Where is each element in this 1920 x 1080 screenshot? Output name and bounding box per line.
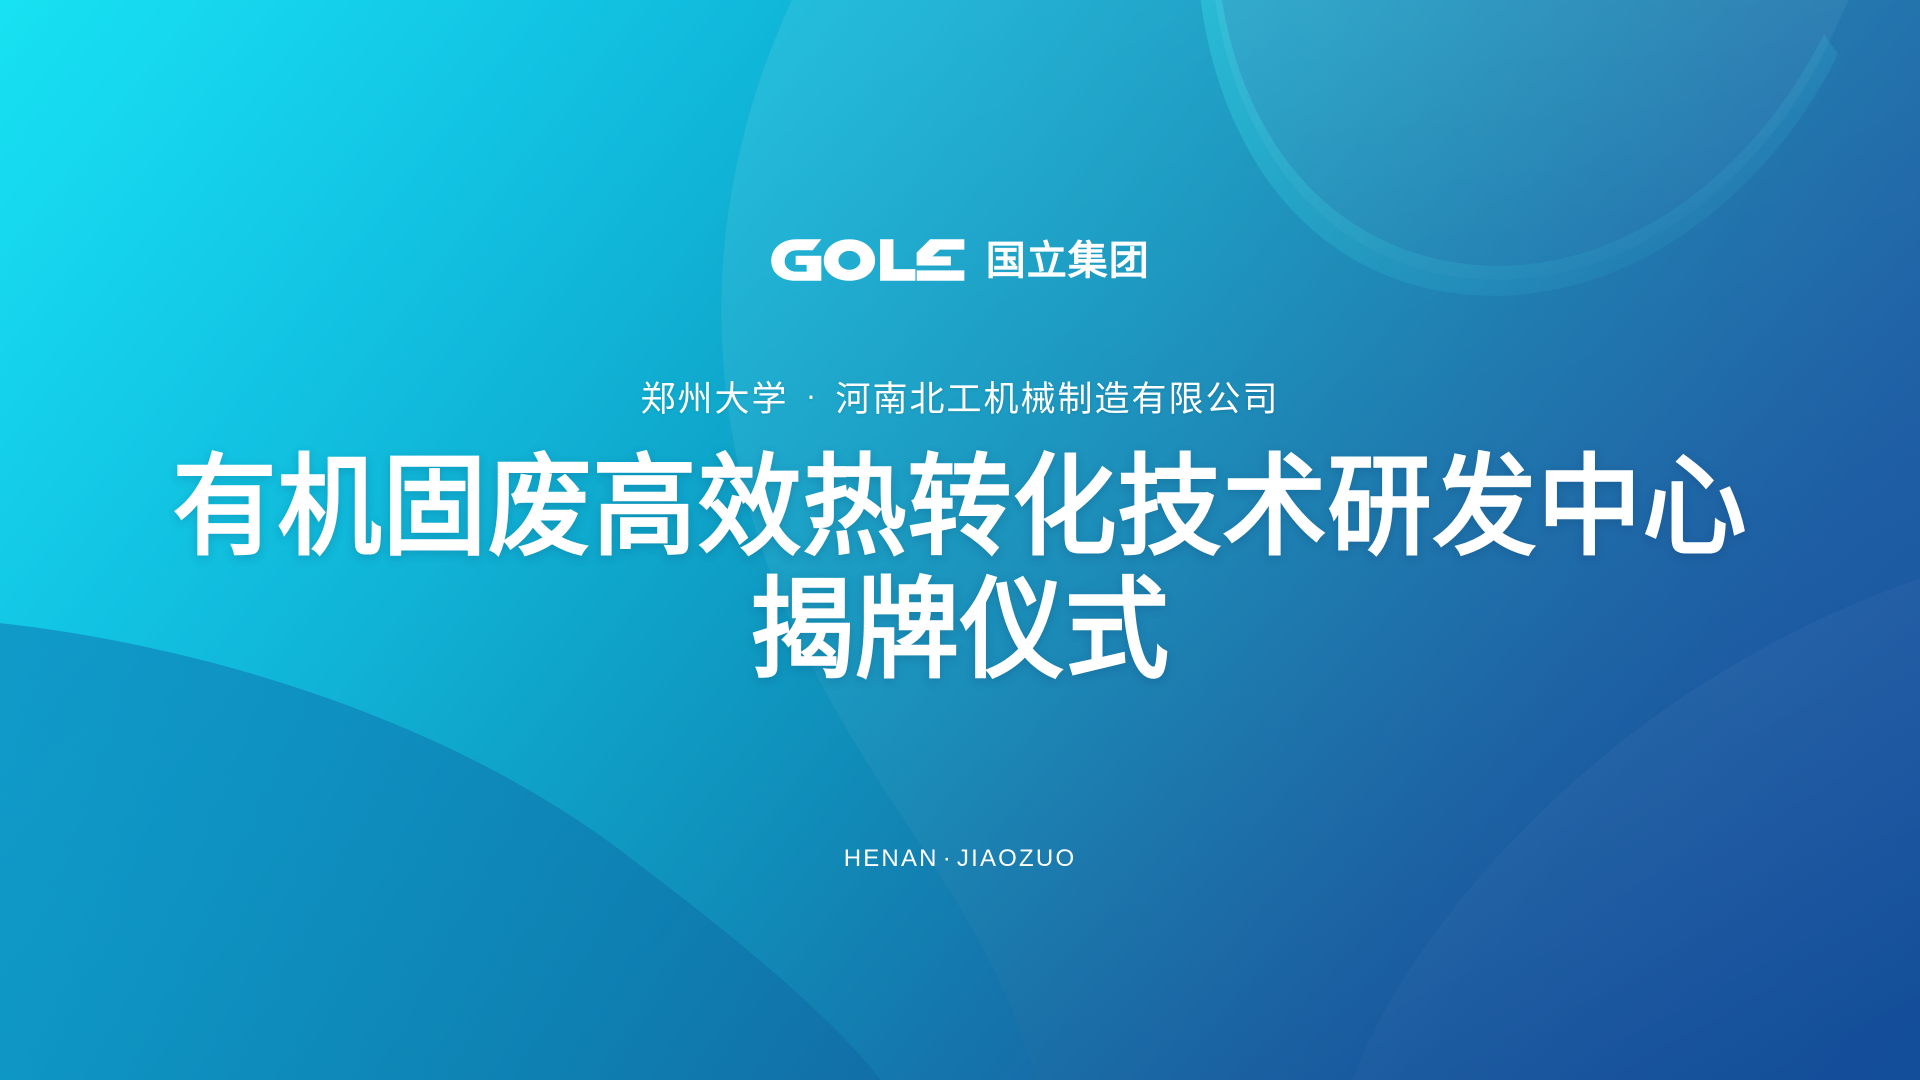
subtitle-separator: ·: [789, 381, 836, 414]
poster-content: 国立集团 郑州大学·河南北工机械制造有限公司 有机固废高效热转化技术研发中心 揭…: [0, 0, 1920, 1080]
subtitle: 郑州大学·河南北工机械制造有限公司: [0, 379, 1920, 423]
footer-right: JIAOZUO: [957, 845, 1076, 872]
footer-separator: ·: [939, 845, 957, 872]
brand-name-cn: 国立集团: [986, 241, 1150, 281]
footer-left: HENAN: [844, 845, 939, 872]
gole-wordmark-icon: [770, 238, 966, 282]
subtitle-left: 郑州大学: [641, 380, 789, 420]
title-line-2: 揭牌仪式: [0, 566, 1920, 694]
main-title: 有机固废高效热转化技术研发中心 揭牌仪式: [0, 443, 1920, 686]
location-footer: HENAN·JIAOZUO: [0, 845, 1920, 873]
subtitle-right: 河南北工机械制造有限公司: [835, 380, 1279, 420]
brand-logo: 国立集团: [0, 231, 1920, 289]
title-line-1: 有机固废高效热转化技术研发中心: [0, 443, 1920, 571]
poster-canvas: 国立集团 郑州大学·河南北工机械制造有限公司 有机固废高效热转化技术研发中心 揭…: [0, 0, 1920, 1080]
